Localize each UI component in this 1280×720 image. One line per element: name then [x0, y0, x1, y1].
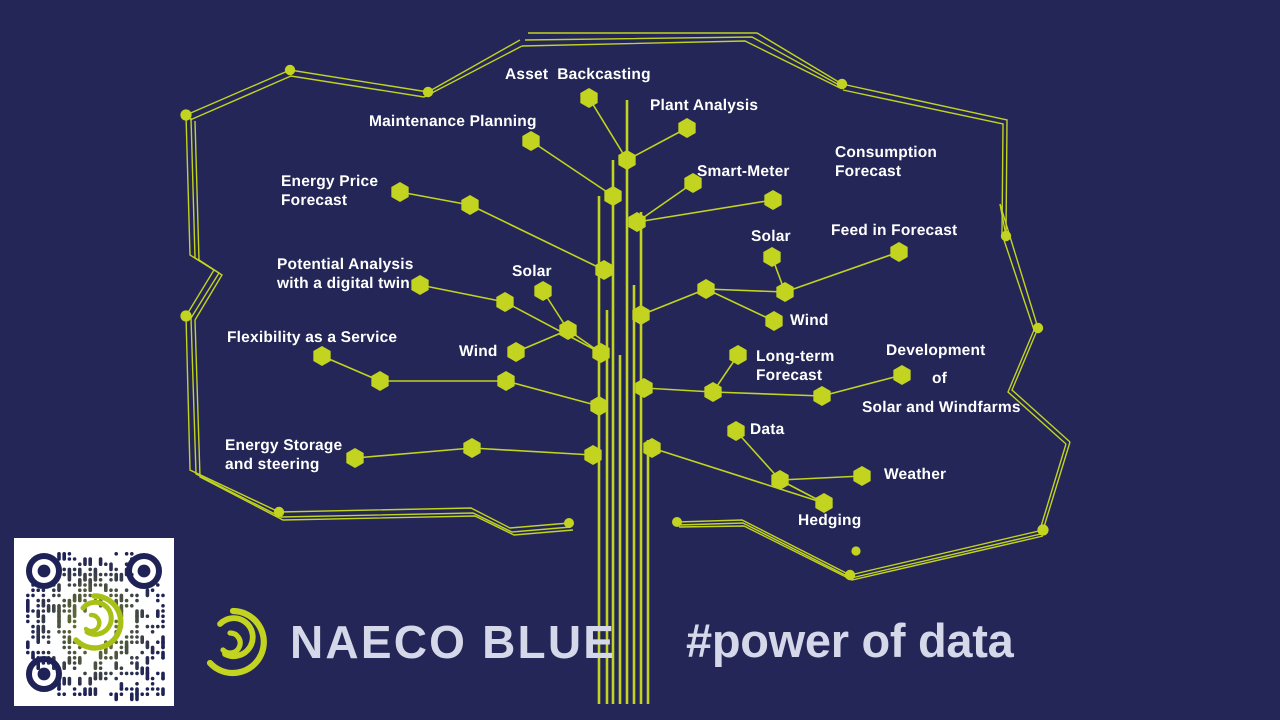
qr-code-graphic — [14, 538, 174, 706]
tagline: #power of data — [686, 613, 1013, 668]
diagram-label-energy-price-forecast: Energy Price Forecast — [281, 172, 378, 210]
slide-canvas: Asset BackcastingPlant AnalysisMaintenan… — [0, 0, 1280, 720]
diagram-label-solar-left: Solar — [512, 262, 552, 281]
diagram-label-solar-upper: Solar — [751, 227, 791, 246]
diagram-label-data: Data — [750, 420, 784, 439]
diagram-label-development-solar-wind: Development — [886, 341, 986, 360]
brand-name: NAECO BLUE — [290, 615, 616, 669]
diagram-label-development-of: of — [932, 369, 947, 388]
diagram-label-asset-backcasting: Asset Backcasting — [505, 65, 651, 84]
naeco-spiral-logo-icon — [196, 605, 270, 679]
diagram-label-consumption-forecast: Consumption Forecast — [835, 143, 937, 181]
diagram-label-solar-and-windfarms: Solar and Windfarms — [862, 398, 1021, 417]
diagram-label-wind-left: Wind — [459, 342, 498, 361]
brand-logo-block: NAECO BLUE — [196, 596, 616, 688]
diagram-label-feed-in-forecast: Feed in Forecast — [831, 221, 957, 240]
diagram-label-smart-meter: Smart-Meter — [697, 162, 790, 181]
diagram-label-long-term-forecast: Long-term Forecast — [756, 347, 834, 385]
diagram-label-potential-analysis: Potential Analysis with a digital twin — [277, 255, 414, 293]
diagram-label-maintenance-planning: Maintenance Planning — [369, 112, 537, 131]
qr-code[interactable] — [14, 538, 174, 706]
diagram-label-energy-storage: Energy Storage and steering — [225, 436, 342, 474]
diagram-label-wind-right: Wind — [790, 311, 829, 330]
data-tree-graphic — [0, 0, 1280, 720]
diagram-label-hedging: Hedging — [798, 511, 861, 530]
diagram-label-weather: Weather — [884, 465, 946, 484]
diagram-label-plant-analysis: Plant Analysis — [650, 96, 758, 115]
diagram-label-flexibility-as-service: Flexibility as a Service — [227, 328, 397, 347]
